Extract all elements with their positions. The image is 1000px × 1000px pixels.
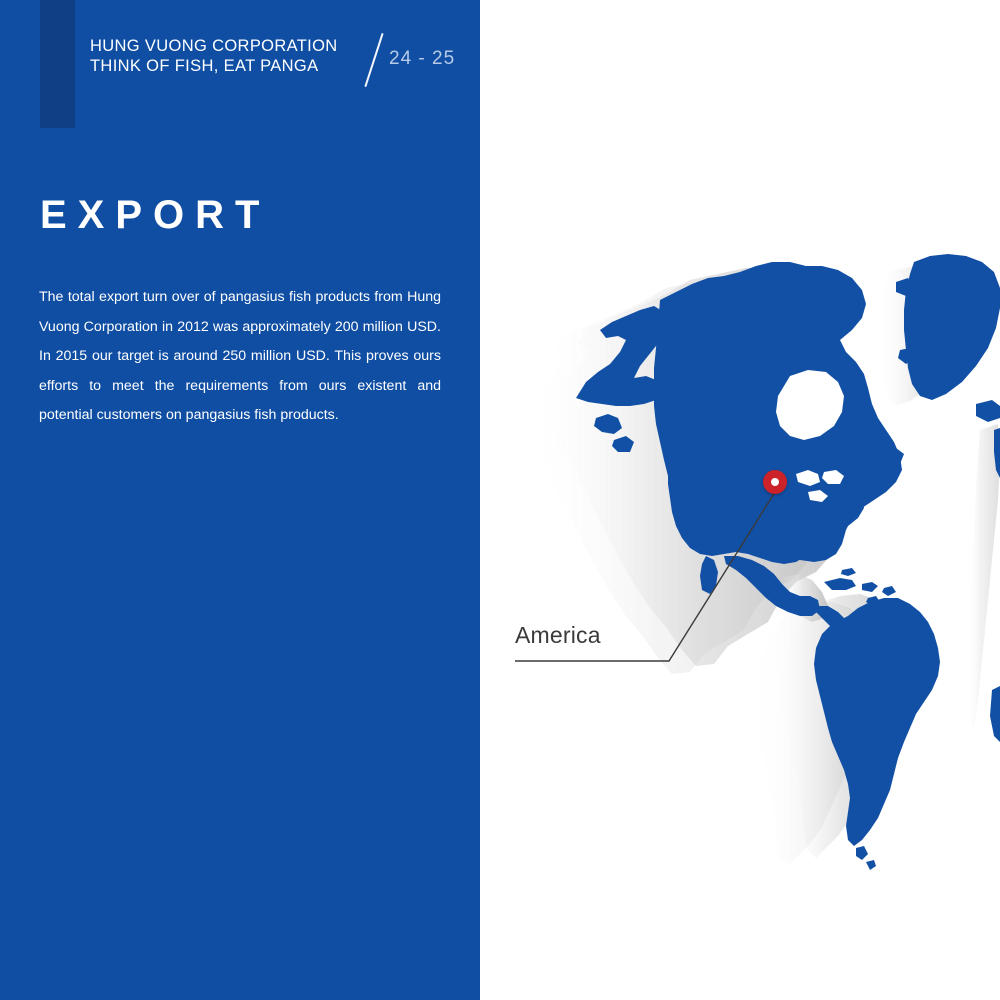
page-number: 24 - 25 [389,48,455,70]
company-name: HUNG VUONG CORPORATION [90,36,368,56]
world-map-graphic [480,0,1000,1000]
map-region-label: America [515,621,601,649]
left-blue-panel: HUNG VUONG CORPORATION THINK OF FISH, EA… [0,0,480,1000]
presentation-slide: HUNG VUONG CORPORATION THINK OF FISH, EA… [0,0,1000,1000]
slide-header: HUNG VUONG CORPORATION THINK OF FISH, EA… [90,36,460,96]
body-paragraph: The total export turn over of pangasius … [39,283,441,431]
body-paragraph-text: The total export turn over of pangasius … [39,289,441,423]
page-title: EXPORT [40,190,270,240]
company-tagline: THINK OF FISH, EAT PANGA [90,56,368,76]
map-pin-marker-icon[interactable] [763,470,787,494]
world-map-panel [480,0,1000,1000]
accent-bar [40,0,75,128]
header-title-block: HUNG VUONG CORPORATION THINK OF FISH, EA… [90,36,368,76]
